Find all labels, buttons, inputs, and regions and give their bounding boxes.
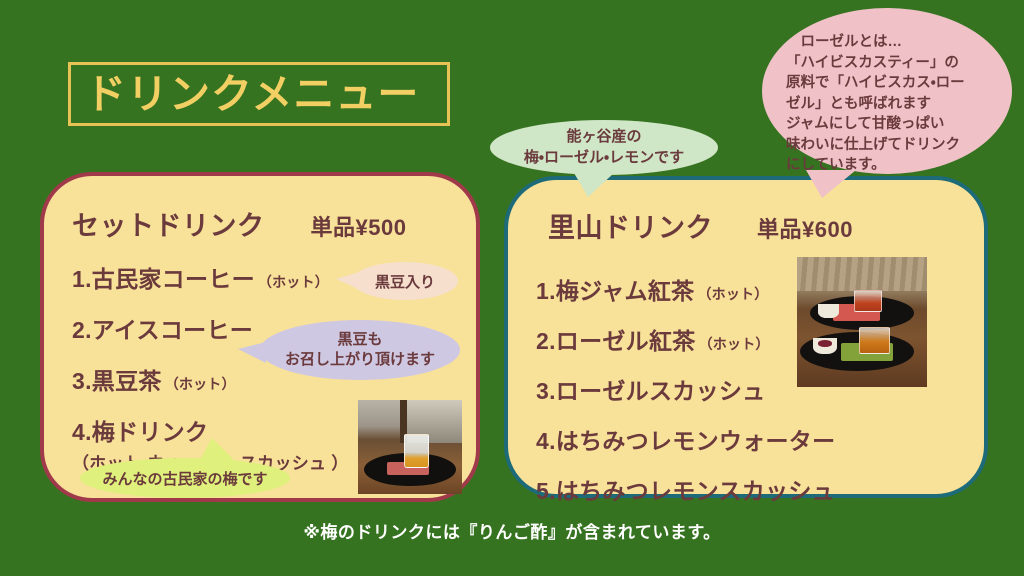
- item-name: 1.古民家コーヒー: [72, 266, 255, 292]
- bubble-tail: [200, 438, 234, 460]
- menu-title-box: ドリンクメニュー: [68, 62, 450, 126]
- photo-glass-front: [859, 327, 890, 354]
- item-note: （ホット）: [258, 274, 329, 290]
- item-name: 4.梅ドリンク: [72, 419, 208, 445]
- item-name: 3.黒豆茶: [72, 368, 162, 394]
- satoyama-drink-list: 1.梅ジャム紅茶（ホット） 2.ローゼル紅茶（ホット） 3.ローゼルスカッシュ …: [536, 272, 838, 506]
- callout-nougaya-san: 能ヶ谷産の 梅・ローゼル・レモンです: [490, 120, 718, 175]
- bubble-tail: [806, 170, 856, 198]
- satoyama-drink-price: 単品¥600: [757, 212, 853, 244]
- callout-roselle-description: ローゼルとは… 「ハイビスカスティー」の 原料で「ハイビスカス・ロー ゼル」とも…: [762, 8, 1012, 174]
- set-drink-price: 単品¥500: [311, 210, 407, 242]
- item-name: 4.はちみつレモンウォーター: [536, 428, 835, 454]
- item-note: （ホット）: [699, 336, 770, 352]
- photo-jam: [818, 340, 832, 347]
- item-name: 2.アイスコーヒー: [72, 317, 253, 343]
- bubble-tail: [574, 173, 614, 197]
- item-name: 5.はちみつレモンスカッシュ: [536, 478, 835, 504]
- satoyama-drink-heading: 里山ドリンク: [548, 206, 713, 245]
- list-item: 4.はちみつレモンウォーター: [536, 422, 838, 456]
- photo-bowl-back: [818, 304, 839, 318]
- callout-text: みんなの古民家の梅です: [102, 468, 267, 489]
- callout-text: 黒豆入り: [375, 271, 435, 292]
- list-item: 5.はちみつレモンスカッシュ: [536, 472, 838, 506]
- callout-kuromame-iri: 黒豆入り: [352, 262, 458, 300]
- list-item: 3.ローゼルスカッシュ: [536, 372, 838, 406]
- page-title: ドリンクメニュー: [85, 74, 419, 115]
- callout-text: ローゼルとは… 「ハイビスカスティー」の 原料で「ハイビスカス・ロー ゼル」とも…: [786, 32, 965, 176]
- callout-text: 能ヶ谷産の 梅・ローゼル・レモンです: [524, 127, 684, 168]
- item-name: 3.ローゼルスカッシュ: [536, 378, 765, 404]
- list-item: 1.梅ジャム紅茶（ホット）: [536, 272, 838, 306]
- item-note: （ホット）: [697, 286, 768, 302]
- bubble-tail: [238, 342, 266, 363]
- item-name: 2.ローゼル紅茶: [536, 328, 696, 354]
- set-drink-header: セットドリンク 単品¥500: [72, 204, 406, 243]
- list-item: 1.古民家コーヒー（ホット）: [72, 260, 349, 294]
- list-item: 2.ローゼル紅茶（ホット）: [536, 322, 838, 356]
- item-note: （ホット）: [165, 376, 236, 392]
- photo-glass-back: [854, 290, 882, 313]
- photo-wood-floor: [797, 257, 927, 291]
- satoyama-drink-header: 里山ドリンク 単品¥600: [548, 206, 853, 245]
- menu-poster: ドリンクメニュー セットドリンク 単品¥500 1.古民家コーヒー（ホット） 2…: [0, 0, 1024, 576]
- callout-kuromame-meshiagari: 黒豆も お召し上がり頂けます: [260, 320, 460, 380]
- footer-note: ※梅のドリンクには『りんご酢』が含まれています。: [0, 518, 1024, 543]
- satoyama-drink-photo: [797, 257, 927, 387]
- callout-text: 黒豆も お召し上がり頂けます: [285, 330, 435, 371]
- bubble-tail: [336, 273, 356, 288]
- callout-minna-no-kominka: みんなの古民家の梅です: [80, 458, 290, 498]
- set-drink-photo: [358, 400, 462, 494]
- item-name: 1.梅ジャム紅茶: [536, 278, 694, 304]
- set-drink-heading: セットドリンク: [72, 204, 265, 243]
- photo-glass: [404, 434, 429, 468]
